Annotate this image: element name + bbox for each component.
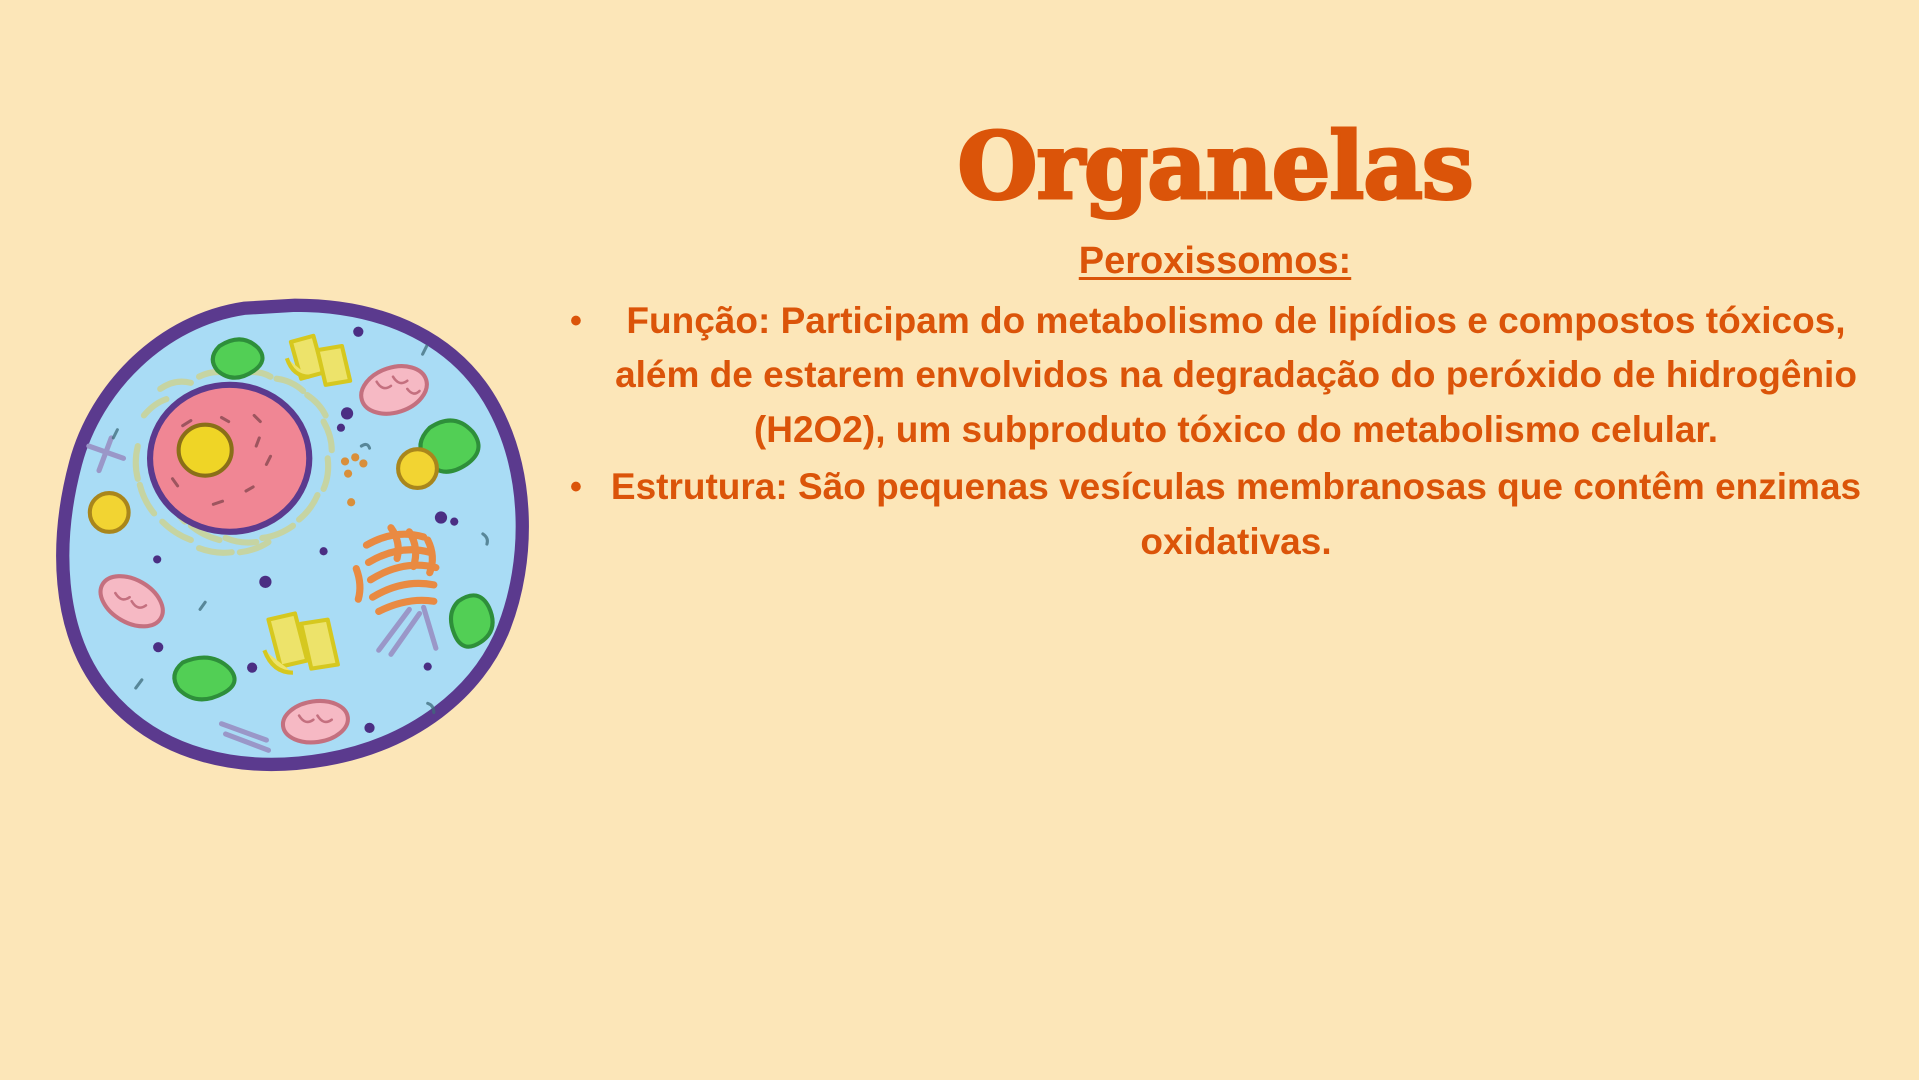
lysosome-icon bbox=[213, 339, 263, 377]
list-item: • Função: Participam do metabolismo de l… bbox=[555, 294, 1875, 458]
animal-cell-illustration bbox=[50, 295, 540, 785]
list-item-text: Função: Participam do metabolismo de lip… bbox=[597, 294, 1875, 458]
content-column: Organelas Peroxissomos: • Função: Partic… bbox=[555, 120, 1875, 569]
list-item: • Estrutura: São pequenas vesículas memb… bbox=[555, 460, 1875, 570]
page-title: Organelas bbox=[555, 120, 1875, 212]
slide-canvas: Organelas Peroxissomos: • Função: Partic… bbox=[0, 0, 1919, 1080]
lysosome-icon bbox=[451, 595, 493, 646]
vesicle-icon bbox=[90, 493, 129, 532]
vesicle-icon bbox=[398, 449, 437, 488]
bullet-marker-icon: • bbox=[555, 294, 597, 346]
section-heading: Peroxissomos: bbox=[555, 238, 1875, 286]
lysosome-icon bbox=[174, 658, 234, 700]
rough-er-bundle-icon bbox=[264, 614, 338, 673]
nucleolus-icon bbox=[179, 425, 232, 476]
list-item-text: Estrutura: São pequenas vesículas membra… bbox=[597, 460, 1875, 570]
bullet-marker-icon: • bbox=[555, 460, 597, 512]
plasma-membrane-icon bbox=[63, 305, 523, 764]
